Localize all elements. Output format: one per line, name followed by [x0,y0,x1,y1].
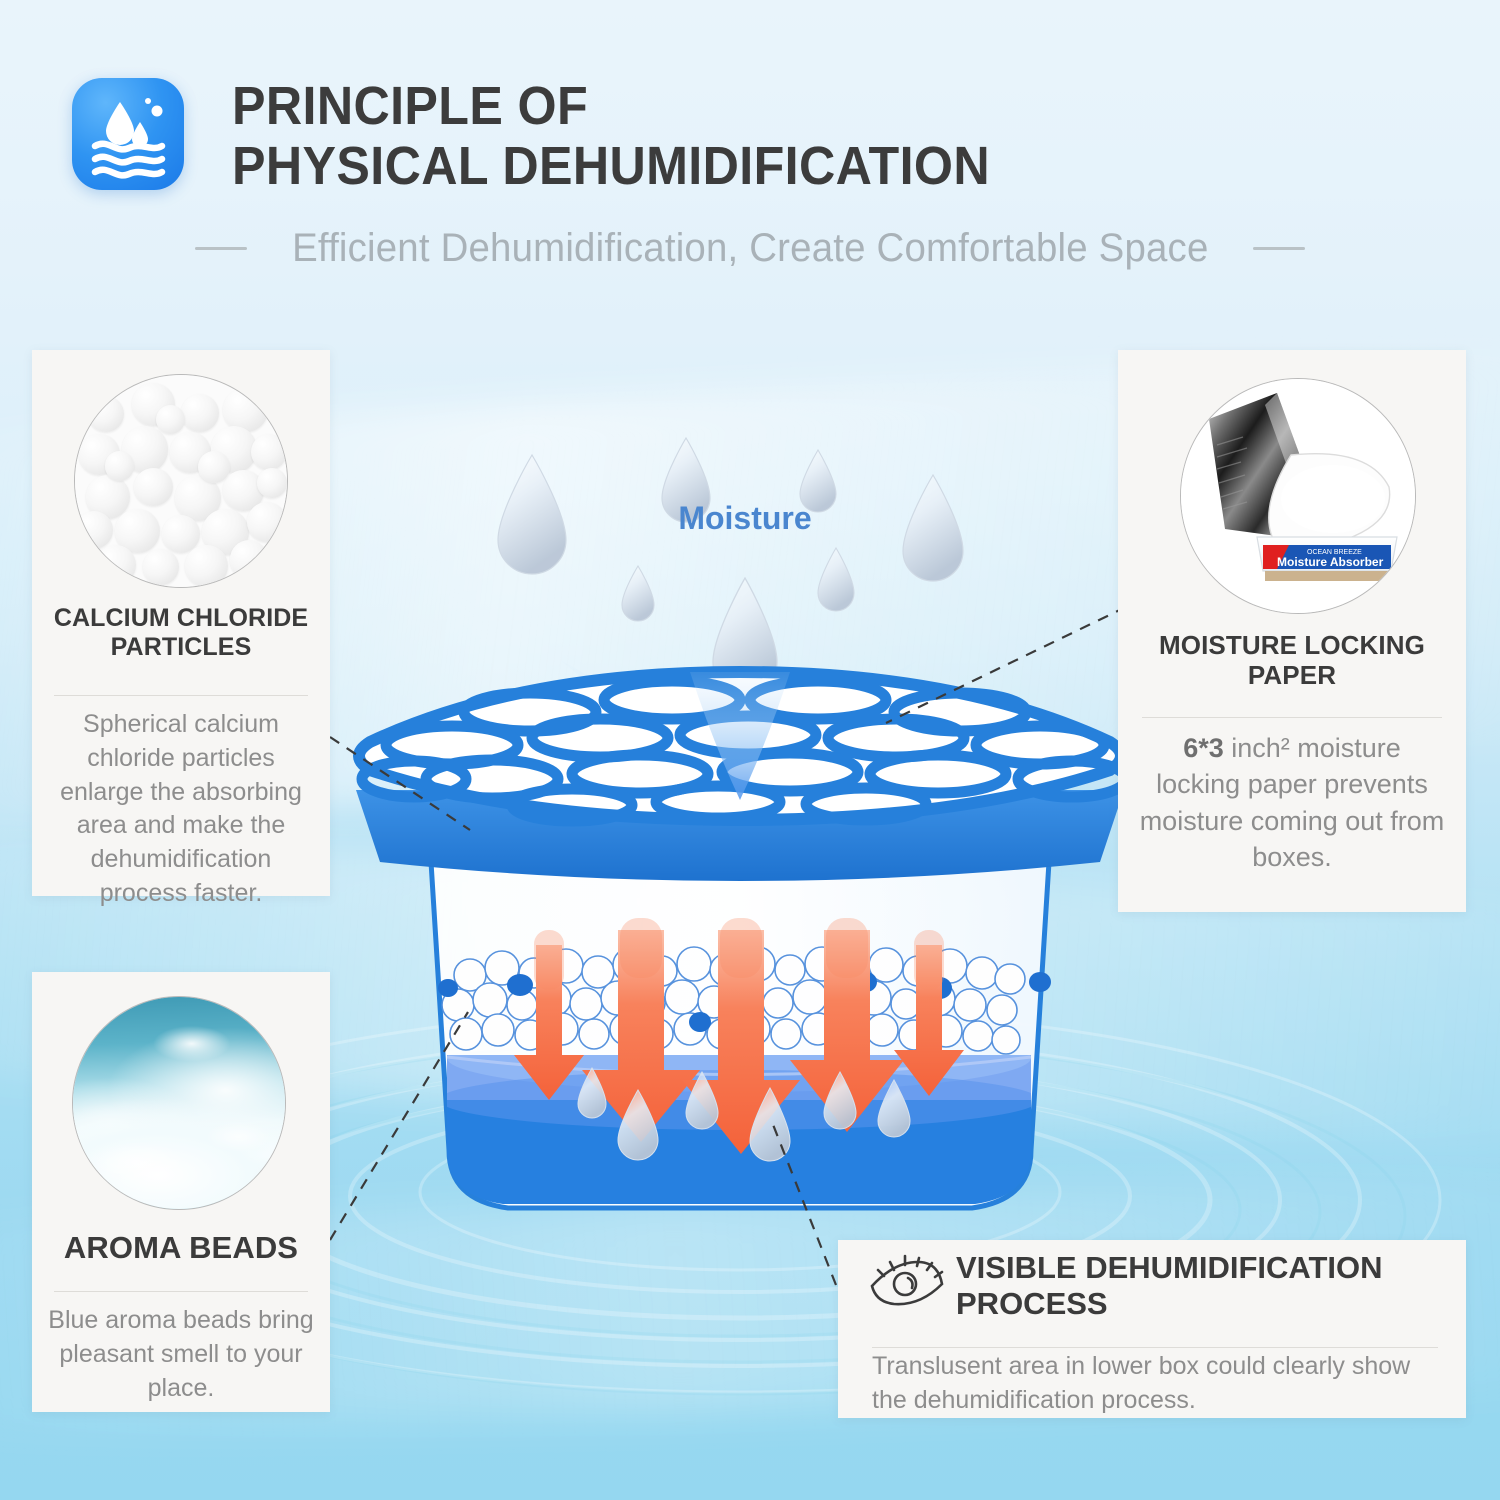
panel-visible-body: Translusent area in lower box could clea… [872,1350,1442,1418]
panel-calcium-title: CALCIUM CHLORIDE PARTICLES [42,604,320,662]
panel-moisture-locking-paper: OCEAN BREEZE Moisture Absorber MOISTURE … [1118,350,1466,912]
panel-paper-title: MOISTURE LOCKING PAPER [1128,630,1456,690]
panel-aroma-beads: AROMA BEADS Blue aroma beads bring pleas… [32,972,330,1412]
panel-visible-title-line2: PROCESS [956,1286,1456,1322]
panel-calcium-divider [54,695,308,696]
subtitle-dash-right [1253,247,1305,250]
subtitle-dash-left [195,247,247,250]
panel-paper-divider [1142,717,1442,718]
page-title-line2: PHYSICAL DEHUMIDIFICATION [232,136,1069,196]
panel-visible-title-line1: VISIBLE DEHUMIDIFICATION [956,1250,1456,1286]
header: PRINCIPLE OF PHYSICAL DEHUMIDIFICATION E… [0,0,1500,300]
eye-icon [864,1254,946,1308]
panel-calcium-body: Spherical calcium chloride particles enl… [48,708,314,911]
panel-aroma-divider [54,1291,308,1292]
panel-calcium-chloride: CALCIUM CHLORIDE PARTICLES Spherical cal… [32,350,330,896]
subtitle-row: Efficient Dehumidification, Create Comfo… [0,218,1500,278]
photo-product-text: Moisture Absorber [1277,555,1384,569]
panel-aroma-title: AROMA BEADS [42,1230,320,1266]
infographic-stage: PRINCIPLE OF PHYSICAL DEHUMIDIFICATION E… [0,0,1500,1500]
ocean-wave-photo [72,996,286,1210]
page-subtitle: Efficient Dehumidification, Create Comfo… [292,226,1208,271]
panel-visible-title: VISIBLE DEHUMIDIFICATION PROCESS [956,1250,1456,1322]
moisture-label: Moisture [660,500,830,537]
panel-paper-dimension: 6*3 [1183,733,1224,763]
panel-paper-body: 6*3 inch² moisture locking paper prevent… [1138,730,1446,876]
page-title: PRINCIPLE OF PHYSICAL DEHUMIDIFICATION [232,76,1069,196]
page-title-line1: PRINCIPLE OF [232,76,1069,136]
panel-visible-process: VISIBLE DEHUMIDIFICATION PROCESS Translu… [838,1240,1466,1418]
panel-visible-divider [872,1347,1438,1348]
moisture-locking-paper-photo: OCEAN BREEZE Moisture Absorber [1180,378,1416,614]
water-drop-waves-icon [72,78,184,190]
panel-aroma-body: Blue aroma beads bring pleasant smell to… [46,1304,316,1405]
calcium-chloride-beads-photo [74,374,288,588]
